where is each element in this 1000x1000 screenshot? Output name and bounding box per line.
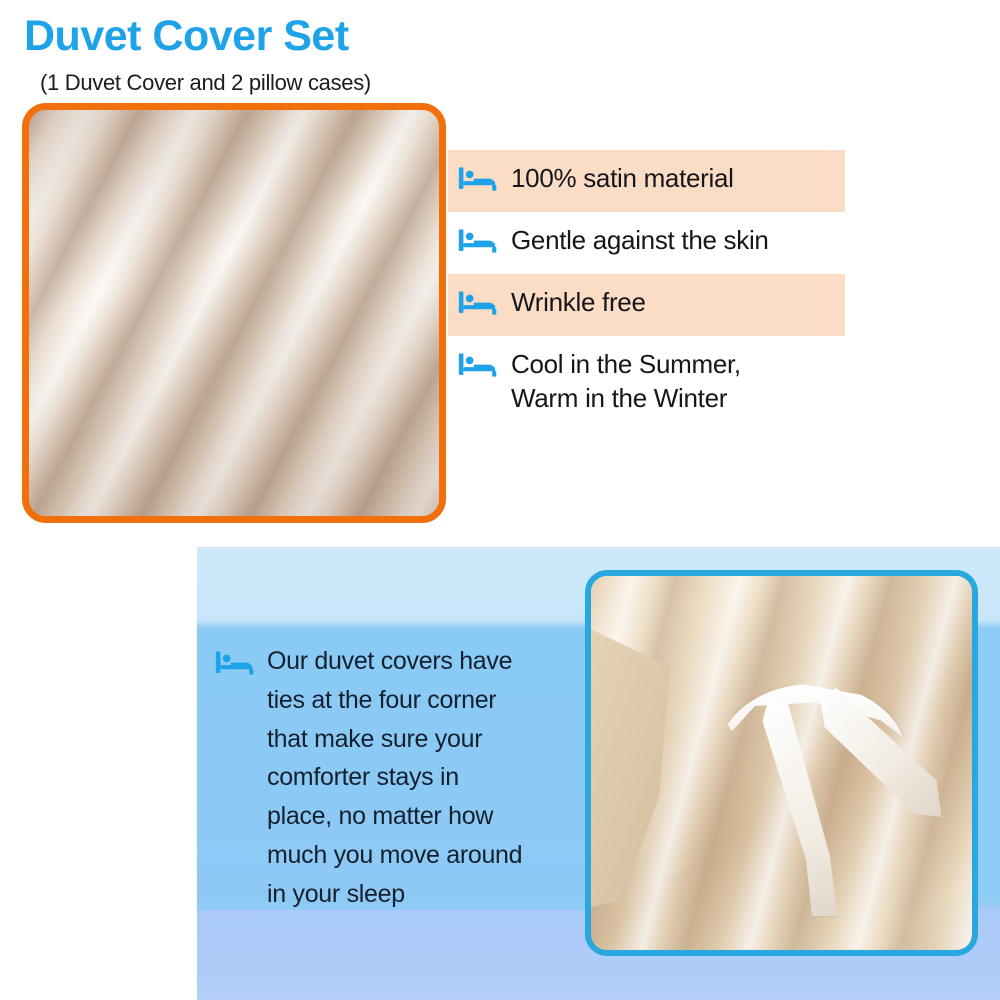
feature-label: Cool in the Summer, Warm in the Winter xyxy=(511,347,741,416)
ties-feature-label: Our duvet covers have ties at the four c… xyxy=(267,642,522,913)
feature-item-wrinkle-free: Wrinkle free xyxy=(448,274,988,336)
feature-item-satin-material: 100% satin material xyxy=(448,150,988,212)
feature-label: 100% satin material xyxy=(511,161,734,196)
feature-item-gentle-skin: Gentle against the skin xyxy=(448,212,988,274)
feature-item-cool-warm: Cool in the Summer, Warm in the Winter xyxy=(448,336,988,427)
bed-icon xyxy=(458,288,498,318)
feature-list: 100% satin material Gentle against the s… xyxy=(448,150,988,427)
ties-feature-text-block: Our duvet covers have ties at the four c… xyxy=(215,642,595,913)
satin-fabric-shading xyxy=(29,110,439,516)
duvet-tie-photo xyxy=(585,570,978,956)
bed-icon xyxy=(458,164,498,194)
bed-icon xyxy=(215,648,255,678)
infographic-canvas: Duvet Cover Set (1 Duvet Cover and 2 pil… xyxy=(0,0,1000,1000)
page-subtitle: (1 Duvet Cover and 2 pillow cases) xyxy=(40,70,371,96)
bed-icon xyxy=(458,350,498,380)
feature-label: Wrinkle free xyxy=(511,285,646,320)
satin-fabric-photo xyxy=(22,103,446,523)
bed-icon xyxy=(458,226,498,256)
ties-feature-panel: Our duvet covers have ties at the four c… xyxy=(197,547,1000,1000)
page-title: Duvet Cover Set xyxy=(24,14,349,59)
feature-label: Gentle against the skin xyxy=(511,223,769,258)
